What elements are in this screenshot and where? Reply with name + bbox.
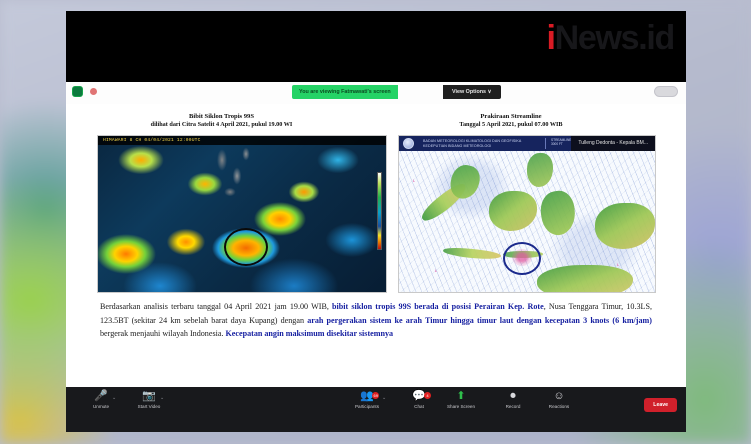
header-divider <box>545 138 546 149</box>
island-philippines <box>527 153 553 187</box>
right-panel-title: Prakiraan Streamline Tanggal 5 April 202… <box>366 113 656 129</box>
microphone-muted-icon: 🎤 <box>78 390 124 403</box>
letterbox-top-band: iNews.id <box>66 11 686 82</box>
leave-meeting-button[interactable]: Leave <box>644 398 677 412</box>
unmute-button[interactable]: 🎤 Unmute <box>78 390 124 409</box>
satellite-image-header: HIMAWARI 8 CH 04/04/2021 12:00UTC <box>98 136 387 145</box>
cyclone-seed-annotation-circle <box>503 242 541 275</box>
meta-line2: 3000 FT <box>551 142 571 146</box>
bmkg-logo-icon <box>403 138 414 149</box>
shared-screen-window: You are viewing Fatmawati's screen View … <box>66 82 686 387</box>
left-title-line1: Bibit Siklon Tropis 99S <box>94 113 349 121</box>
island-australia <box>537 265 633 293</box>
security-icon-group <box>72 86 97 97</box>
pressure-label-c: L <box>617 263 619 267</box>
island-papua <box>595 203 655 249</box>
record-icon: ⏺ <box>490 390 536 403</box>
start-video-button[interactable]: 📷 Start Video <box>126 390 172 409</box>
paragraph-run: bergerak menjauhi wilayah Indonesia. <box>100 329 226 338</box>
satellite-landmask <box>210 142 272 200</box>
satellite-image: HIMAWARI 8 CH 04/04/2021 12:00UTC <box>97 135 387 293</box>
right-title-line2: Tanggal 5 April 2021, pukul 07.00 WIB <box>366 121 656 129</box>
left-title-line2: dilihat dari Citra Satelit 4 April 2021,… <box>94 121 349 129</box>
video-stage: iNews.id You are viewing Fatmawati's scr… <box>66 11 686 432</box>
pressure-label-b: L <box>435 269 437 273</box>
participants-label: Participants <box>344 404 390 409</box>
record-button[interactable]: ⏺ Record <box>490 390 536 409</box>
satellite-color-scale <box>377 172 382 250</box>
zoom-control-bar: 🎤 Unmute ⌄ 📷 Start Video ⌄ 👥 69 Particip… <box>66 387 686 432</box>
reactions-button[interactable]: ☺ Reactions <box>536 390 582 409</box>
view-options-button[interactable]: View Options ∨ <box>443 85 501 99</box>
encryption-shield-icon[interactable] <box>72 86 83 97</box>
streamline-header-meta: STREAMLINE 3000 FT <box>551 138 571 146</box>
record-label: Record <box>490 404 536 409</box>
video-options-chevron-icon[interactable]: ⌄ <box>160 395 164 401</box>
chat-label: Chat <box>396 404 442 409</box>
slide-paragraph: Berdasarkan analisis terbaru tanggal 04 … <box>100 300 652 341</box>
viewing-screen-banner: You are viewing Fatmawati's screen <box>292 85 398 99</box>
inews-watermark: iNews.id <box>546 21 674 55</box>
island-java <box>443 246 502 261</box>
island-borneo <box>489 191 537 231</box>
share-screen-label: Share Screen <box>438 404 484 409</box>
streamline-map-area: L L L <box>399 151 656 293</box>
start-video-label: Start Video <box>126 404 172 409</box>
reactions-icon: ☺ <box>536 390 582 403</box>
paragraph-highlight-run: bibit siklon tropis 99S berada di posisi… <box>332 302 544 311</box>
watermark-rest-text: News.id <box>555 19 674 57</box>
camera-off-icon: 📷 <box>126 390 172 403</box>
share-screen-icon: ⬆ <box>438 390 484 403</box>
watermark-accent-letter: i <box>546 19 554 57</box>
reactions-label: Reactions <box>536 404 582 409</box>
presentation-slide: Bibit Siklon Tropis 99S dilihat dari Cit… <box>66 104 686 387</box>
chat-unread-badge: 4 <box>424 392 431 399</box>
chat-bubble-icon: 💬 <box>396 390 442 403</box>
paragraph-run: Berdasarkan analisis terbaru tanggal 04 … <box>100 302 332 311</box>
paragraph-highlight-run: arah pergerakan sistem ke arah Timur hin… <box>307 316 652 325</box>
screen-share-control-bar: You are viewing Fatmawati's screen View … <box>66 82 686 104</box>
island-sulawesi <box>538 189 578 237</box>
audio-options-chevron-icon[interactable]: ⌄ <box>112 395 116 401</box>
share-screen-button[interactable]: ⬆ Share Screen <box>438 390 484 409</box>
streamline-chart: L L L BADAN METEOROLOGI KLIMATOLOGI DAN … <box>398 135 656 293</box>
paragraph-highlight-run: Kecepatan angin maksimum disekitar siste… <box>226 329 394 338</box>
cyclone-seed-annotation-circle <box>224 228 268 266</box>
exit-fullscreen-button[interactable] <box>654 86 678 97</box>
recording-dot-icon <box>90 88 97 95</box>
left-panel-title: Bibit Siklon Tropis 99S dilihat dari Cit… <box>94 113 349 129</box>
right-title-line1: Prakiraan Streamline <box>366 113 656 121</box>
pressure-label-a: L <box>413 179 415 183</box>
unmute-label: Unmute <box>78 404 124 409</box>
participant-name-label: Tulleng Dedonta - Kepala BM... <box>571 136 655 151</box>
participants-chevron-icon[interactable]: ⌄ <box>382 395 386 401</box>
chat-button[interactable]: 💬 4 Chat <box>396 390 442 409</box>
